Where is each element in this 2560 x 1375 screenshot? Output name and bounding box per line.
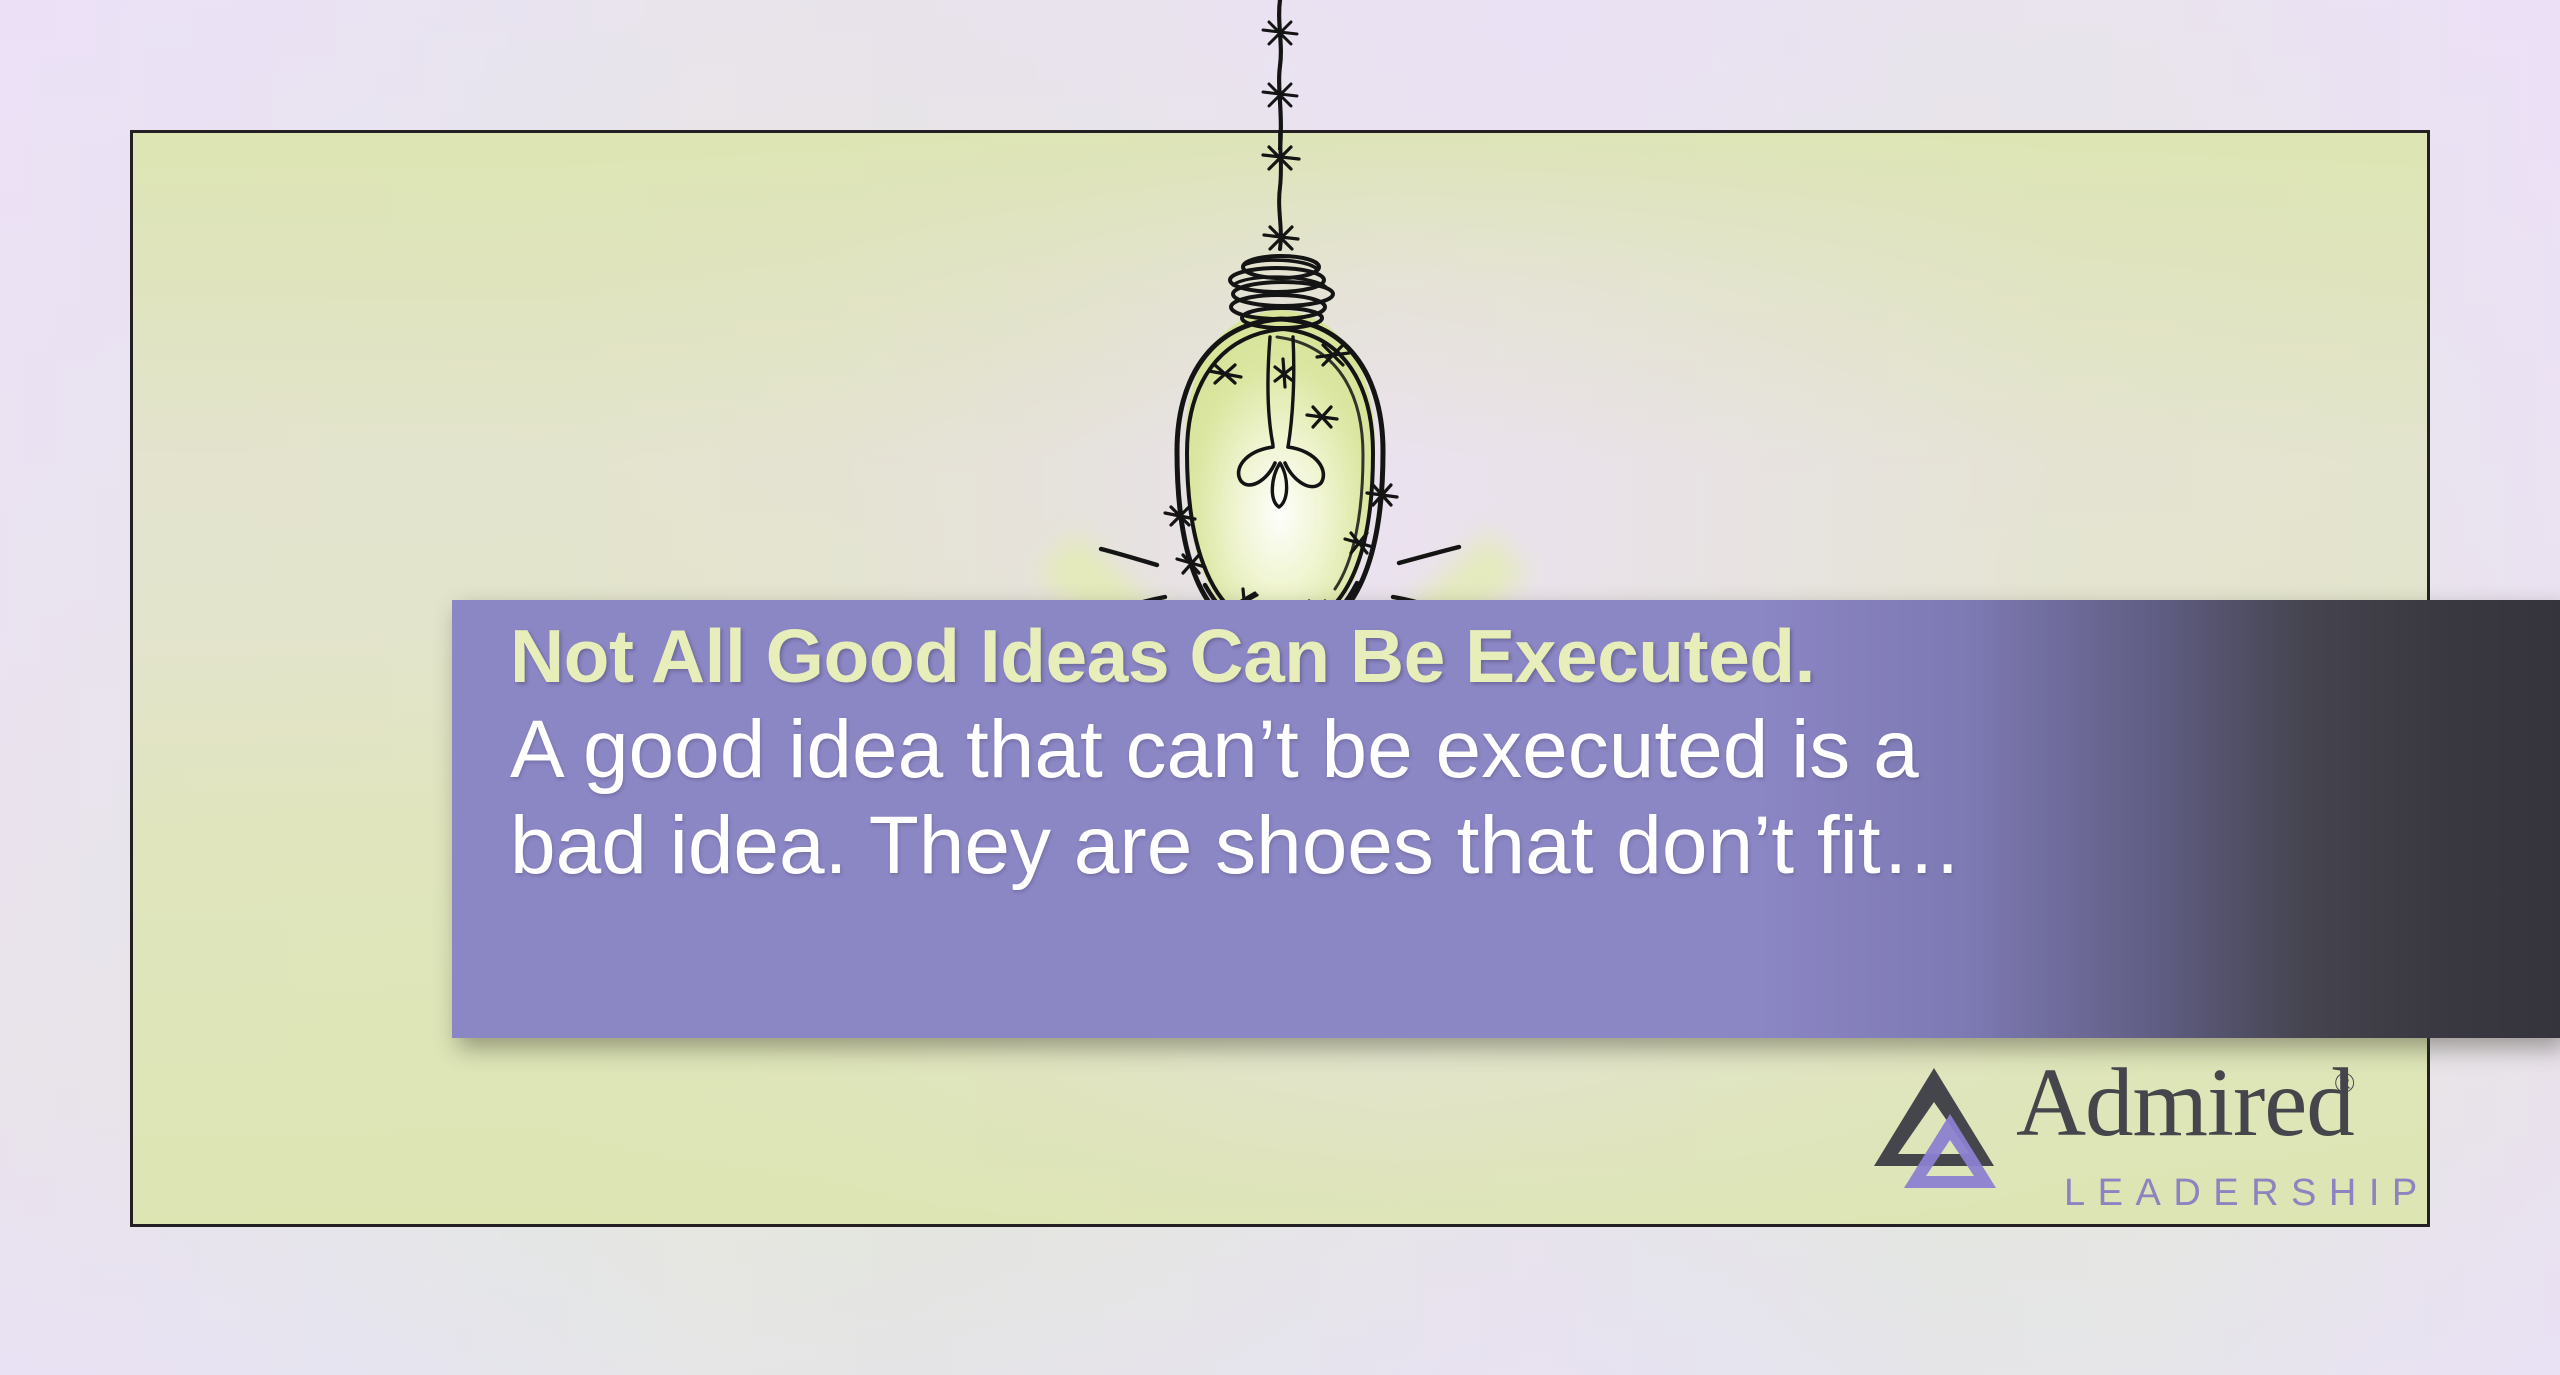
quote-line-1: A good idea that can’t be executed is a: [510, 702, 2560, 798]
quote-banner-content: Not All Good Ideas Can Be Executed. A go…: [510, 614, 2560, 1038]
quote-line-2: bad idea. They are shoes that don’t fit…: [510, 798, 2560, 894]
slide-canvas: Not All Good Ideas Can Be Executed. A go…: [0, 0, 2560, 1375]
quote-banner: Not All Good Ideas Can Be Executed. A go…: [452, 600, 2560, 1038]
page-title: Not All Good Ideas Can Be Executed.: [510, 614, 2560, 698]
